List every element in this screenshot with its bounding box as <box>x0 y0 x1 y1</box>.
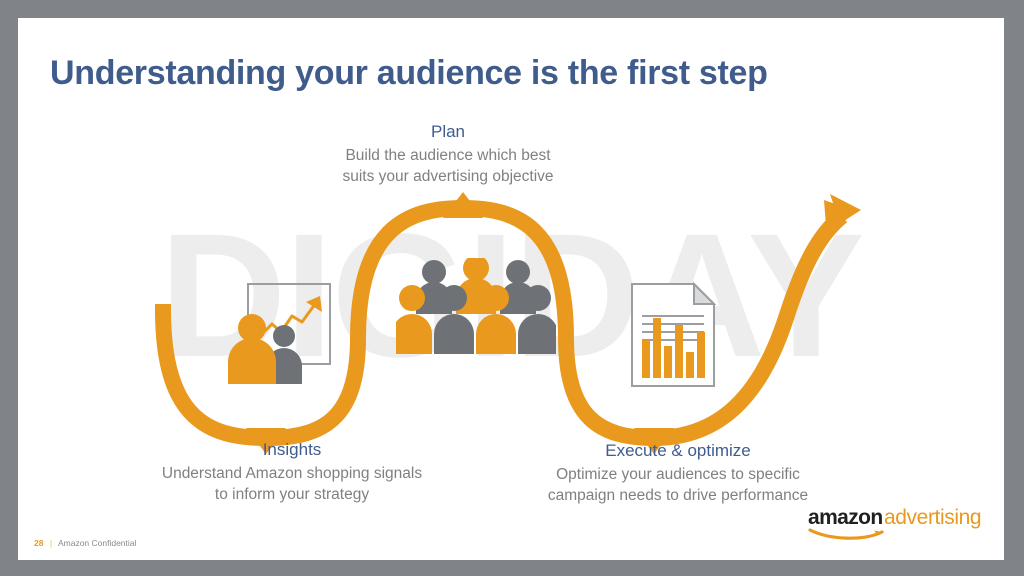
callout-insights: Insights Understand Amazon shopping sign… <box>82 440 502 505</box>
callout-insights-line2: to inform your strategy <box>82 485 502 506</box>
audience-front-body-1 <box>396 314 432 354</box>
trend-arrowhead-icon <box>306 296 322 312</box>
slide-footer: 28 | Amazon Confidential <box>34 538 136 548</box>
amazon-smile-icon <box>810 530 882 538</box>
audience-group-icon <box>396 258 556 354</box>
audience-mid-head-3 <box>483 285 509 311</box>
audience-mid-head-2 <box>441 285 467 311</box>
audience-mid-head-1 <box>399 285 425 311</box>
audience-back-head-3 <box>506 260 530 284</box>
callout-plan: Plan Build the audience which best suits… <box>238 122 658 187</box>
logo-word-amazon: amazon <box>808 506 883 529</box>
audience-front-body-2 <box>434 314 474 354</box>
audience-front-body-4 <box>518 314 556 354</box>
callout-execute-heading: Execute & optimize <box>458 441 898 461</box>
callout-plan-heading: Plan <box>238 122 658 142</box>
callout-insights-heading: Insights <box>82 440 502 460</box>
audience-back-head-2 <box>463 258 489 281</box>
audience-front-body-3 <box>476 314 516 354</box>
person-gray-head <box>273 325 295 347</box>
callout-execute: Execute & optimize Optimize your audienc… <box>458 441 898 506</box>
audience-mid-head-4 <box>525 285 551 311</box>
person-orange-head <box>238 314 266 342</box>
page-number: 28 <box>34 538 43 548</box>
callout-plan-line1: Build the audience which best <box>238 146 658 167</box>
document-fold-corner <box>694 284 714 304</box>
slide-canvas: DIGIDAY Understanding your audience is t… <box>18 18 1004 560</box>
footer-separator: | <box>50 538 52 548</box>
people-with-trend-chart-icon <box>224 280 336 386</box>
person-orange-body <box>228 338 276 384</box>
callout-plan-line2: suits your advertising objective <box>238 167 658 188</box>
logo-word-advertising: advertising <box>884 506 981 529</box>
report-with-bar-chart-icon <box>624 280 722 390</box>
callout-insights-line1: Understand Amazon shopping signals <box>82 464 502 485</box>
amazon-advertising-logo: amazon advertising <box>808 502 984 542</box>
confidential-label: Amazon Confidential <box>58 538 136 548</box>
callout-execute-line1: Optimize your audiences to specific <box>458 465 898 486</box>
wave-start-cap <box>155 304 171 314</box>
audience-back-head-1 <box>422 260 446 284</box>
